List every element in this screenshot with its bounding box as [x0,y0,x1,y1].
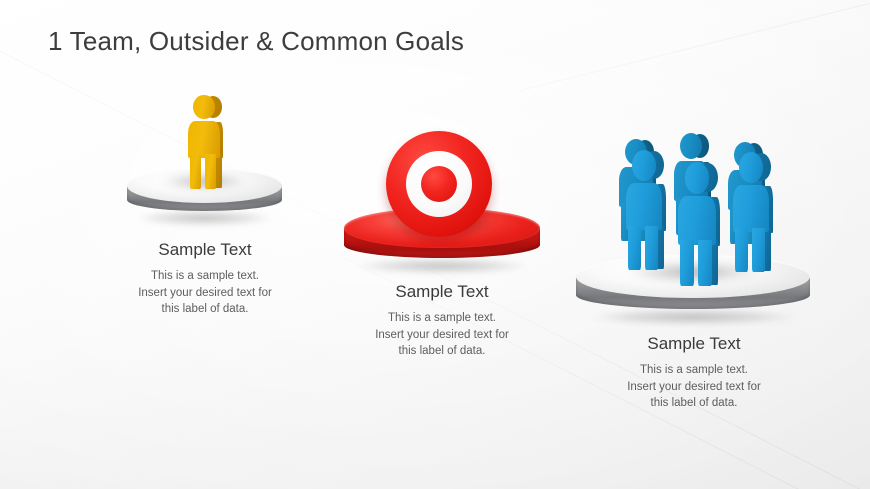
blue-person-icon [726,152,776,270]
person-body [733,185,769,232]
person-leg-left [735,228,748,273]
slide-canvas: 1 Team, Outsider & Common Goals Sample T… [0,0,870,489]
person-head [632,150,656,181]
caption-body-line: This is a sample text. [564,362,824,379]
blue-person-icon [671,162,723,284]
person-head [739,152,763,183]
person-leg-side [657,226,664,270]
caption-team: Sample Text This is a sample text. Inser… [564,334,824,412]
caption-body-line: this label of data. [564,395,824,412]
person-leg-right [752,228,765,273]
person-head [685,162,710,194]
person-leg-right [698,240,712,286]
person-body [626,183,662,230]
person-leg-side [711,240,718,285]
caption-heading: Sample Text [564,334,824,354]
group-team[interactable]: Sample Text This is a sample text. Inser… [0,0,870,430]
person-body [678,196,715,245]
person-leg-left [680,240,694,286]
person-leg-side [764,228,771,272]
caption-body-line: Insert your desired text for [564,379,824,396]
person-leg-right [645,226,658,271]
platform-drop-shadow [590,309,796,325]
person-leg-left [628,226,641,271]
blue-person-icon [619,150,669,268]
person-head [680,133,702,159]
